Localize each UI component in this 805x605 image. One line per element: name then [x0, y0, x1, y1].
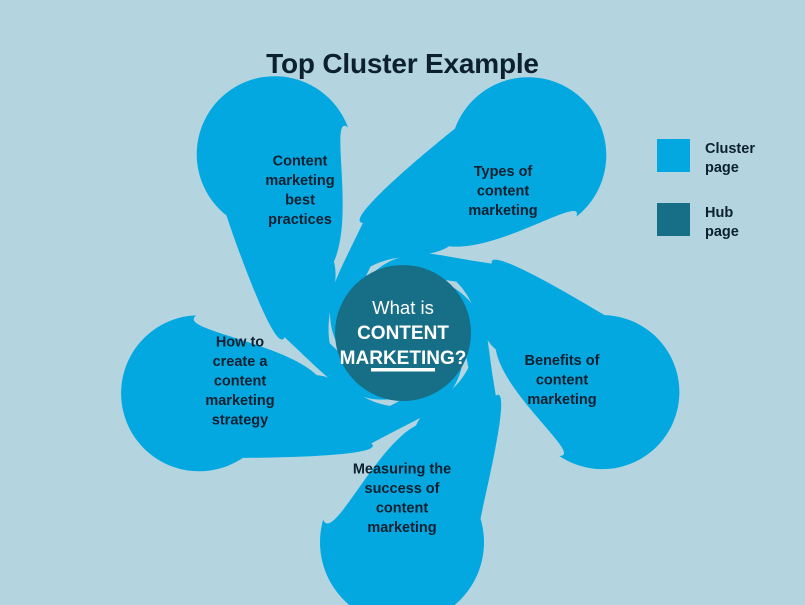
legend-swatch-cluster-page — [657, 139, 690, 172]
legend-label-line-2: page — [705, 159, 755, 178]
legend-label-line-1: Hub — [705, 204, 739, 223]
petal-label-line: content — [477, 184, 530, 200]
legend-item-cluster-page: Clusterpage — [657, 139, 797, 177]
petal-label-line: strategy — [212, 413, 268, 429]
hub-node-group: What isCONTENTMARKETING? — [335, 265, 471, 401]
infographic-canvas: Top Cluster Example What isCONTENTMARKET… — [0, 0, 805, 605]
petal-label-line: Benefits of — [525, 353, 600, 369]
petal-label-line: How to — [216, 335, 264, 351]
petal-label-line: content — [214, 374, 267, 390]
petal-label-line: create a — [213, 354, 269, 370]
petal-label-line: Measuring the — [353, 461, 451, 477]
legend-label-hub-page: Hubpage — [705, 203, 739, 241]
petal-label-line: marketing — [205, 393, 274, 409]
legend-label-line-2: page — [705, 223, 739, 242]
hub-label-line-1: What is — [372, 297, 434, 318]
petal-label-line: Types of — [474, 164, 533, 180]
hub-label-line-2: CONTENT — [357, 323, 449, 344]
legend-label-cluster-page: Clusterpage — [705, 139, 755, 177]
petal-label-line: practices — [268, 212, 332, 228]
petal-label-types-of-content-marketing: Types ofcontentmarketing — [468, 164, 537, 219]
petal-label-line: content — [376, 500, 429, 516]
legend-item-hub-page: Hubpage — [657, 203, 797, 241]
petal-label-line: marketing — [367, 520, 436, 536]
legend: ClusterpageHubpage — [657, 139, 797, 267]
hub-label-line-3: MARKETING? — [340, 348, 467, 369]
cluster-diagram: What isCONTENTMARKETING? Contentmarketin… — [0, 0, 805, 605]
petal-label-line: content — [536, 373, 589, 389]
hub-underline-rule — [371, 368, 435, 372]
petal-label-line: Content — [273, 153, 328, 169]
petal-label-line: marketing — [527, 392, 596, 408]
petal-label-line: marketing — [468, 203, 537, 219]
legend-swatch-hub-page — [657, 203, 690, 236]
legend-label-line-1: Cluster — [705, 140, 755, 159]
petal-label-line: best — [285, 192, 315, 208]
petal-label-line: success of — [365, 481, 440, 497]
petal-label-line: marketing — [265, 173, 334, 189]
